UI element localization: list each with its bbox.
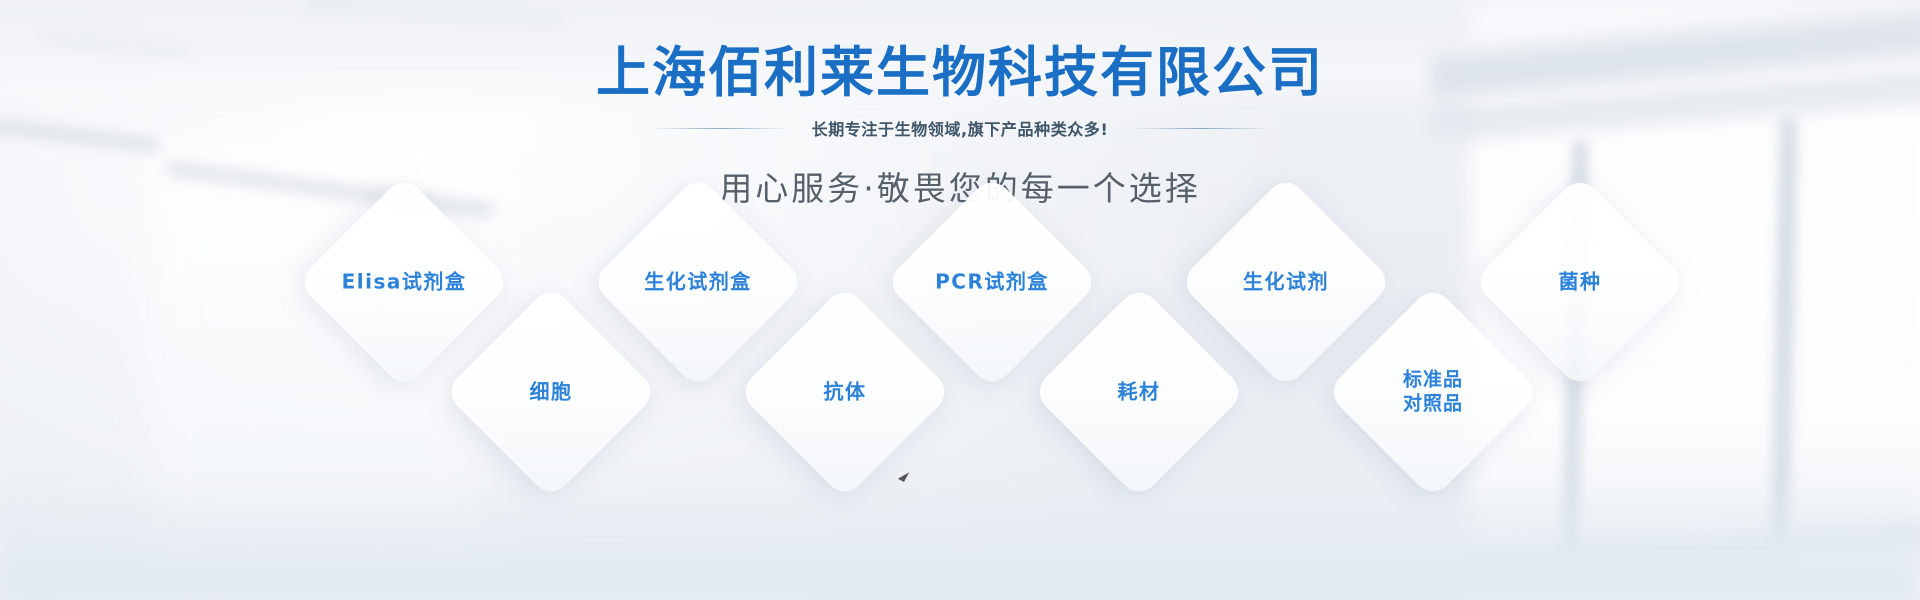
category-label: 菌种: [1559, 270, 1602, 295]
category-label: 耗材: [1118, 380, 1161, 405]
category-label: 抗体: [824, 380, 867, 405]
category-label: Elisa试剂盒: [342, 270, 467, 295]
category-label: 细胞: [530, 380, 573, 405]
category-label: 生化试剂: [1243, 270, 1329, 295]
banner-stage: 上海佰利莱生物科技有限公司 长期专注于生物领域,旗下产品种类众多! 用心服务·敬…: [0, 0, 1920, 600]
category-label: 生化试剂盒: [644, 270, 752, 295]
category-label: 标准品对照品: [1373, 368, 1493, 416]
category-label: PCR试剂盒: [935, 270, 1049, 295]
category-diamond-grid: 细胞抗体耗材标准品对照品Elisa试剂盒生化试剂盒PCR试剂盒生化试剂菌种: [0, 0, 1920, 600]
